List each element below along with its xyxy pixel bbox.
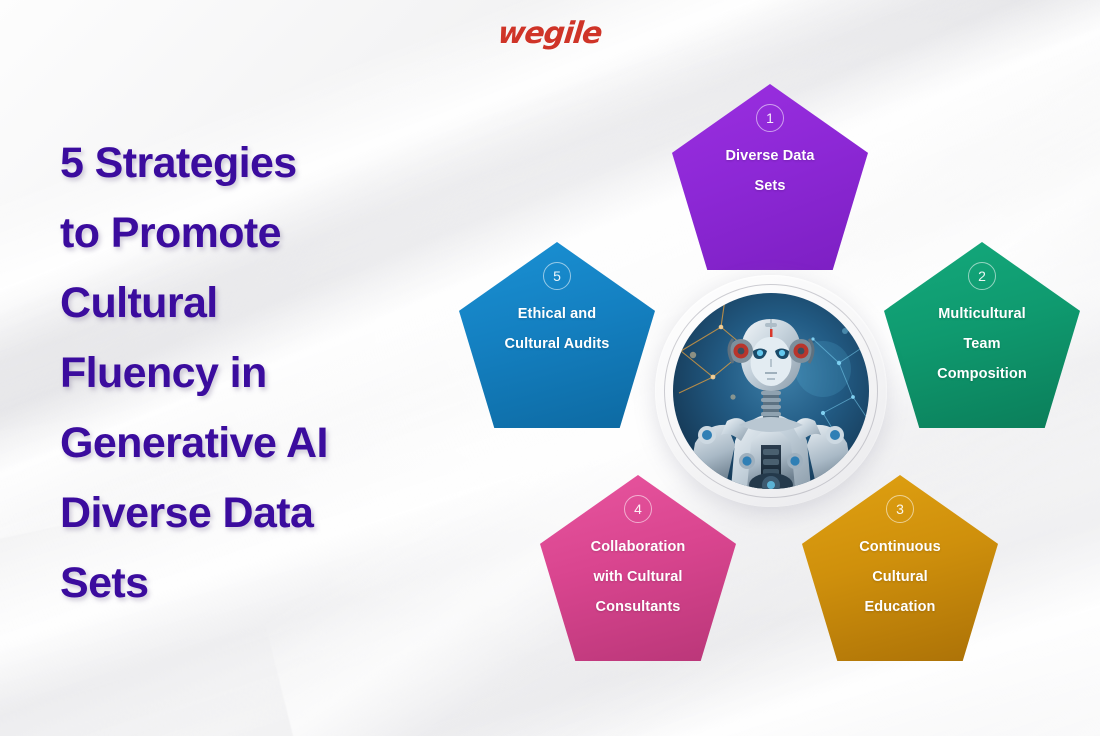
- brand-logo: wegile: [0, 16, 1100, 51]
- step-number-badge: 5: [543, 262, 571, 290]
- pentagon-label-line: Cultural Audits: [473, 329, 641, 359]
- pentagon-label-line: Consultants: [554, 592, 722, 622]
- page-title-line: Sets: [60, 548, 460, 618]
- pentagon-label-line: Diverse Data: [686, 141, 854, 171]
- pentagon-label-line: Multicultural: [898, 299, 1066, 329]
- page-title-line: Diverse Data: [60, 478, 460, 548]
- pentagon-label-3: Continuous Cultural Education: [816, 532, 984, 622]
- page-title-line: Generative AI: [60, 408, 460, 478]
- pentagon-label-5: Ethical and Cultural Audits: [473, 299, 641, 359]
- center-circle-ring: [655, 275, 887, 507]
- page-title-line: Fluency in: [60, 338, 460, 408]
- robot-image: [673, 293, 869, 489]
- pentagon-label-line: Cultural: [816, 562, 984, 592]
- page-title-line: Cultural: [60, 268, 460, 338]
- pentagon-label-line: Collaboration: [554, 532, 722, 562]
- pentagon-label-line: Team: [898, 329, 1066, 359]
- page-title-line: to Promote: [60, 198, 460, 268]
- page-title: 5 Strategies to Promote Cultural Fluency…: [60, 128, 460, 618]
- pentagon-label-line: Continuous: [816, 532, 984, 562]
- pentagon-label-line: Composition: [898, 359, 1066, 389]
- infographic-canvas: wegile 5 Strategies to Promote Cultural …: [0, 0, 1100, 736]
- page-title-line: 5 Strategies: [60, 128, 460, 198]
- pentagon-label-line: Sets: [686, 171, 854, 201]
- pentagon-label-1: Diverse Data Sets: [686, 141, 854, 201]
- pentagon-label-4: Collaboration with Cultural Consultants: [554, 532, 722, 622]
- pentagon-node-3[interactable]: 3 Continuous Cultural Education: [802, 475, 998, 661]
- step-number-badge: 1: [756, 104, 784, 132]
- pentagon-node-5[interactable]: 5 Ethical and Cultural Audits: [459, 242, 655, 428]
- pentagon-label-line: Ethical and: [473, 299, 641, 329]
- step-number-badge: 3: [886, 495, 914, 523]
- pentagon-label-line: Education: [816, 592, 984, 622]
- brand-logo-text: wegile: [497, 16, 604, 51]
- pentagon-label-2: Multicultural Team Composition: [898, 299, 1066, 389]
- pentagon-node-4[interactable]: 4 Collaboration with Cultural Consultant…: [540, 475, 736, 661]
- pentagon-label-line: with Cultural: [554, 562, 722, 592]
- pentagon-node-2[interactable]: 2 Multicultural Team Composition: [884, 242, 1080, 428]
- pentagon-cycle-diagram: 1 Diverse Data Sets 2 Multicultural Team…: [450, 70, 1090, 670]
- pentagon-node-1[interactable]: 1 Diverse Data Sets: [672, 84, 868, 270]
- step-number-badge: 4: [624, 495, 652, 523]
- step-number-badge: 2: [968, 262, 996, 290]
